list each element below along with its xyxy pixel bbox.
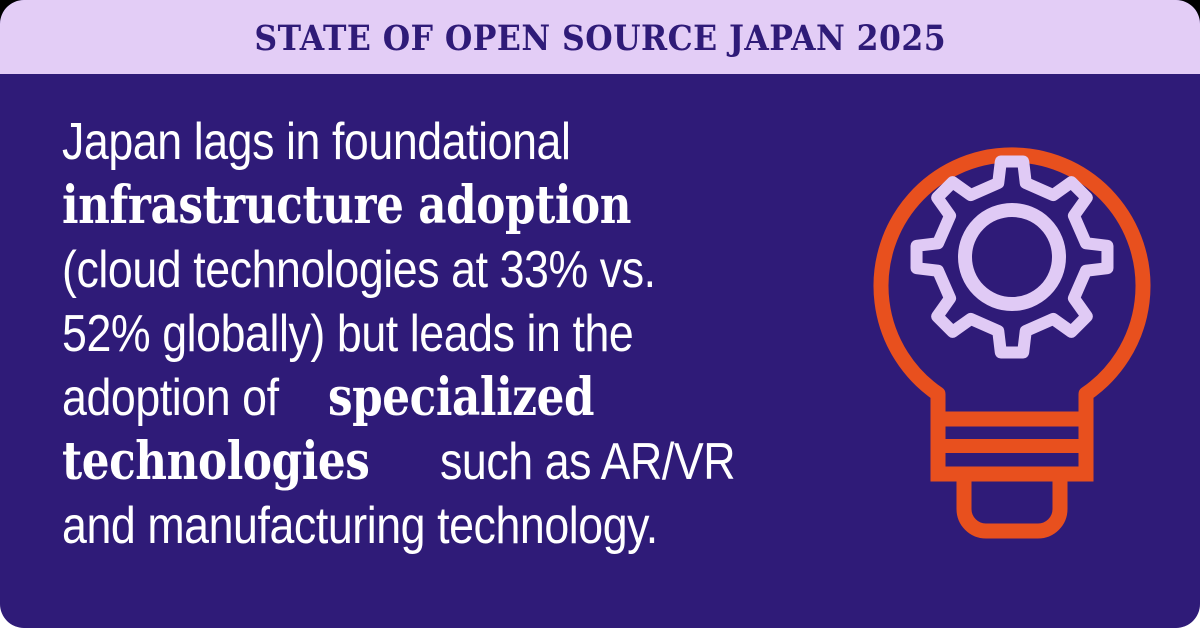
lightbulb-with-gear-icon <box>862 94 1162 564</box>
statement-line: technologies such as AR/VR <box>62 436 832 488</box>
statement-line: Japan lags in foundational <box>62 116 832 168</box>
statement-run: such as AR/VR <box>428 436 735 488</box>
statement-run: Japan lags in foundational <box>62 116 570 168</box>
statement-run: (cloud technologies at 33% vs. <box>62 244 656 296</box>
infographic-card: STATE OF OPEN SOURCE JAPAN 2025 Japan la… <box>0 0 1200 628</box>
statement-emphasis-run: infrastructure adoption <box>62 180 631 232</box>
statement-run: and manufacturing technology. <box>62 500 658 552</box>
statement-emphasis-run: specialized <box>328 372 594 424</box>
statement-line: adoption of specialized <box>62 372 832 424</box>
statement-emphasis-run: technologies <box>62 436 369 488</box>
card-body: Japan lags in foundationalinfrastructure… <box>0 74 1200 628</box>
statement-line: 52% globally) but leads in the <box>62 308 832 360</box>
statement-run: adoption of <box>62 372 291 424</box>
gear-hub-circle <box>965 210 1059 304</box>
gear-icon <box>917 162 1108 353</box>
statement-run: 52% globally) but leads in the <box>62 308 633 360</box>
bulb-glass-path <box>881 155 1143 419</box>
statement-line: and manufacturing technology. <box>62 500 832 552</box>
statement-line: (cloud technologies at 33% vs. <box>62 244 832 296</box>
statement-text: Japan lags in foundationalinfrastructure… <box>62 116 832 552</box>
statement-line: infrastructure adoption <box>62 180 832 232</box>
page-title: STATE OF OPEN SOURCE JAPAN 2025 <box>254 21 946 56</box>
bulb-contact-stem <box>964 474 1060 531</box>
gear-outline-path <box>917 162 1108 353</box>
lightbulb-gear-svg <box>862 94 1162 564</box>
header-band: STATE OF OPEN SOURCE JAPAN 2025 <box>0 0 1200 74</box>
